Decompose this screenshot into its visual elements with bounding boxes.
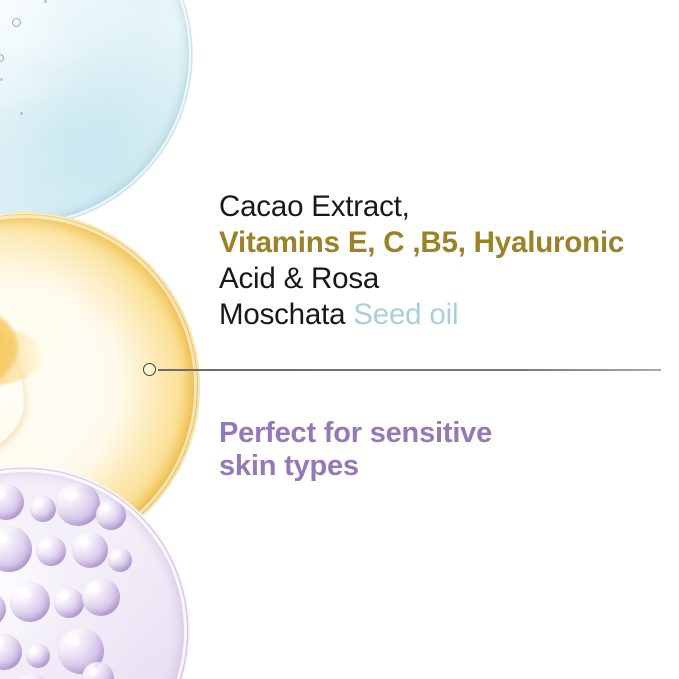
divider-circle-node-icon: [143, 363, 156, 376]
ingredients-line-4-highlight: Seed oil: [353, 298, 458, 331]
tagline-text-block: Perfect for sensitiveskin types: [219, 417, 639, 483]
tagline-line-1: Perfect for sensitive: [219, 417, 492, 449]
product-ingredients-graphic: Cacao Extract,Vitamins E, C ,B5, Hyaluro…: [0, 0, 679, 679]
oil-swirl-tail: [0, 322, 47, 396]
tagline-line-2: skin types: [219, 450, 639, 483]
blue-gel-petri-dish: [0, 0, 193, 227]
ingredients-line-4: Moschata: [219, 298, 353, 331]
ingredients-line-1: Cacao Extract,: [219, 190, 410, 223]
oil-swirl-underlay: [0, 304, 18, 396]
lavender-bubbles-petri-dish: [0, 466, 190, 679]
ingredients-line-3: Acid & Rosa: [219, 262, 379, 295]
horizontal-divider-line: [158, 369, 661, 371]
ingredients-line-2-highlight: Vitamins E, C ,B5, Hyaluronic: [219, 226, 624, 259]
oil-swirl: [0, 318, 24, 460]
ingredients-text-block: Cacao Extract,Vitamins E, C ,B5, Hyaluro…: [219, 189, 665, 333]
